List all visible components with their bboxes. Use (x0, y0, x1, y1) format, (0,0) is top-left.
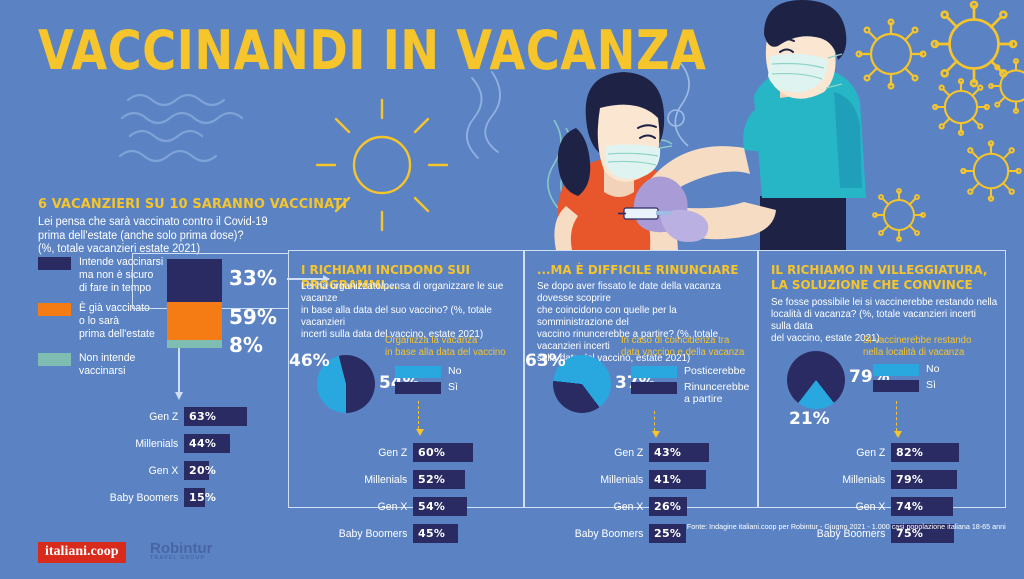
gen-bar: 63% (184, 407, 247, 426)
gen-value: 43% (649, 446, 681, 459)
panel-richiami-incidono: I RICHIAMI INCIDONO SUI PROGRAMMI... Lei… (288, 250, 524, 508)
gen-label: Baby Boomers (324, 528, 413, 540)
legend-swatch-navy (631, 382, 677, 394)
virus-icon (872, 188, 926, 242)
virus-icon (932, 78, 990, 136)
gen-label: Millenials (802, 474, 891, 486)
stack-label-33: 33% (229, 266, 277, 290)
gen-label: Millenials (104, 438, 184, 450)
gen-label: Gen Z (324, 447, 413, 459)
left-generation-bars: Gen Z 63% Millenials 44% Gen X 20% Baby … (100, 407, 247, 515)
panel-legend-si: Sì (395, 381, 458, 394)
panel-legend-no: No (395, 365, 461, 378)
gen-value: 52% (413, 473, 445, 486)
stack-label-8: 8% (229, 333, 263, 357)
table-row: Baby Boomers 45% (319, 524, 473, 543)
gen-bar: 54% (413, 497, 467, 516)
gen-bar: 43% (649, 443, 709, 462)
gen-value: 45% (413, 527, 445, 540)
panel-legend-title: Si vaccinerebbe restando nella località … (863, 335, 1001, 359)
gen-value: 20% (184, 464, 216, 477)
panel-legend-posticerebbe: Posticerebbe (631, 365, 745, 378)
stack-segment-navy (167, 259, 222, 302)
gen-value: 79% (891, 473, 923, 486)
pie-chart (787, 351, 845, 409)
panel-legend-si: Sì (873, 379, 936, 392)
legend-label: Posticerebbe (684, 365, 745, 377)
stacked-bar-chart (167, 259, 222, 348)
legend-swatch-light-blue (631, 366, 677, 378)
logo-robintur-subtitle: TRAVEL GROUP (150, 555, 212, 561)
legend-label: Sì (926, 379, 936, 391)
table-row: Gen X 20% (100, 461, 247, 480)
table-row: Gen X 74% (797, 497, 959, 516)
gen-value: 63% (184, 410, 216, 423)
gen-label: Gen Z (560, 447, 649, 459)
legend-swatch-orange (38, 303, 71, 316)
gen-label: Gen X (324, 501, 413, 513)
table-row: Gen Z 60% (319, 443, 473, 462)
legend-swatch-light-blue (395, 366, 441, 378)
table-row: Gen Z 63% (100, 407, 247, 426)
legend-label: Non intende vaccinarsi (79, 352, 135, 378)
infographic-canvas: VACCINANDI IN VACANZA 6 VACANZIERI SU 10… (0, 0, 1024, 579)
panel-difficile-rinunciare: ...MA È DIFFICILE RINUNCIARE Se dopo ave… (524, 250, 758, 508)
gen-value: 74% (891, 500, 923, 513)
table-row: Millenials 52% (319, 470, 473, 489)
panel-title: IL RICHIAMO IN VILLEGGIATURA, LA SOLUZIO… (771, 263, 1001, 292)
gen-bar: 44% (184, 434, 230, 453)
table-row: Gen X 54% (319, 497, 473, 516)
legend-swatch-navy (873, 380, 919, 392)
stack-segment-orange (167, 302, 222, 340)
left-headline: 6 VACANZIERI SU 10 SARANNO VACCINATI (38, 196, 276, 212)
gen-bar: 60% (413, 443, 473, 462)
gen-value: 82% (891, 446, 923, 459)
panel-title: ...MA È DIFFICILE RINUNCIARE (537, 263, 754, 278)
arrow-down-icon (896, 401, 898, 431)
gen-value: 54% (413, 500, 445, 513)
page-title: VACCINANDI IN VACANZA (38, 22, 706, 80)
table-row: Gen Z 82% (797, 443, 959, 462)
panel-question: Lei ha organizzato/pensa di organizzare … (301, 281, 514, 341)
panel-richiamo-villeggiatura: IL RICHIAMO IN VILLEGGIATURA, LA SOLUZIO… (758, 250, 1006, 508)
table-row: Baby Boomers 15% (100, 488, 247, 507)
legend-swatch-navy (38, 257, 71, 270)
gen-bar: 41% (649, 470, 706, 489)
gen-label: Gen X (104, 465, 184, 477)
legend-label: Sì (448, 381, 458, 393)
pie-label-no: 46% (289, 351, 330, 371)
gen-label: Gen X (802, 501, 891, 513)
virus-icon (855, 18, 927, 90)
gen-label: Millenials (324, 474, 413, 486)
gen-bar: 15% (184, 488, 205, 507)
logo-italiani-coop: italiani.coop (38, 542, 126, 563)
gen-label: Gen X (560, 501, 649, 513)
pie-label-posticerebbe: 63% (525, 351, 566, 371)
legend-swatch-light-blue (873, 364, 919, 376)
stack-label-59: 59% (229, 305, 277, 329)
gen-value: 25% (649, 527, 681, 540)
gen-bar: 20% (184, 461, 209, 480)
gen-bar: 52% (413, 470, 465, 489)
gen-value: 44% (184, 437, 216, 450)
gen-bar: 82% (891, 443, 959, 462)
gen-label: Baby Boomers (104, 492, 184, 504)
gen-bar: 74% (891, 497, 953, 516)
stack-segment-teal (167, 340, 222, 348)
left-question: Lei pensa che sarà vaccinato contro il C… (38, 216, 276, 257)
gen-label: Gen Z (802, 447, 891, 459)
source-note: Fonte: Indagine italiani.coop per Robint… (687, 522, 1006, 531)
panel-legend-rinuncerebbe: Rinuncerebbe a partire (631, 381, 749, 405)
panel-legend-title: Organizza la vacanza in base alla data d… (385, 335, 519, 359)
pie-label-no: 21% (789, 409, 830, 429)
gen-bar: 26% (649, 497, 687, 516)
gen-value: 60% (413, 446, 445, 459)
legend-swatch-teal (38, 353, 71, 366)
table-row: Millenials 41% (555, 470, 709, 489)
panel1-generation-bars: Gen Z 60% Millenials 52% Gen X 54% Baby … (319, 443, 473, 551)
table-row: Gen X 26% (555, 497, 709, 516)
left-block-header: 6 VACANZIERI SU 10 SARANNO VACCINATI Lei… (38, 196, 288, 257)
panel3-generation-bars: Gen Z 82% Millenials 79% Gen X 74% Baby … (797, 443, 959, 551)
logo-robintur: Robintur TRAVEL GROUP (150, 540, 212, 561)
gen-bar: 25% (649, 524, 686, 543)
gen-value: 15% (184, 491, 216, 504)
gen-label: Gen Z (104, 411, 184, 423)
legend-swatch-navy (395, 382, 441, 394)
table-row: Millenials 44% (100, 434, 247, 453)
gen-bar: 79% (891, 470, 957, 489)
panel-legend-no: No (873, 363, 939, 376)
panel-legend-title: In caso di coincidenza tra data vaccino … (621, 335, 755, 359)
virus-icon (960, 140, 1022, 202)
virus-icon (988, 58, 1024, 114)
gen-bar: 45% (413, 524, 458, 543)
legend-item-non-intende: Non intende vaccinarsi (38, 352, 168, 378)
arrow-down-icon (654, 411, 656, 431)
table-row: Millenials 79% (797, 470, 959, 489)
gen-label: Millenials (560, 474, 649, 486)
table-row: Gen Z 43% (555, 443, 709, 462)
panel2-generation-bars: Gen Z 43% Millenials 41% Gen X 26% Baby … (555, 443, 709, 551)
gen-value: 26% (649, 500, 681, 513)
legend-label: No (926, 363, 939, 375)
arrow-down-icon (418, 401, 420, 429)
legend-label: No (448, 365, 461, 377)
gen-label: Baby Boomers (560, 528, 649, 540)
gen-value: 41% (649, 473, 681, 486)
legend-label: Rinuncerebbe a partire (684, 381, 749, 405)
